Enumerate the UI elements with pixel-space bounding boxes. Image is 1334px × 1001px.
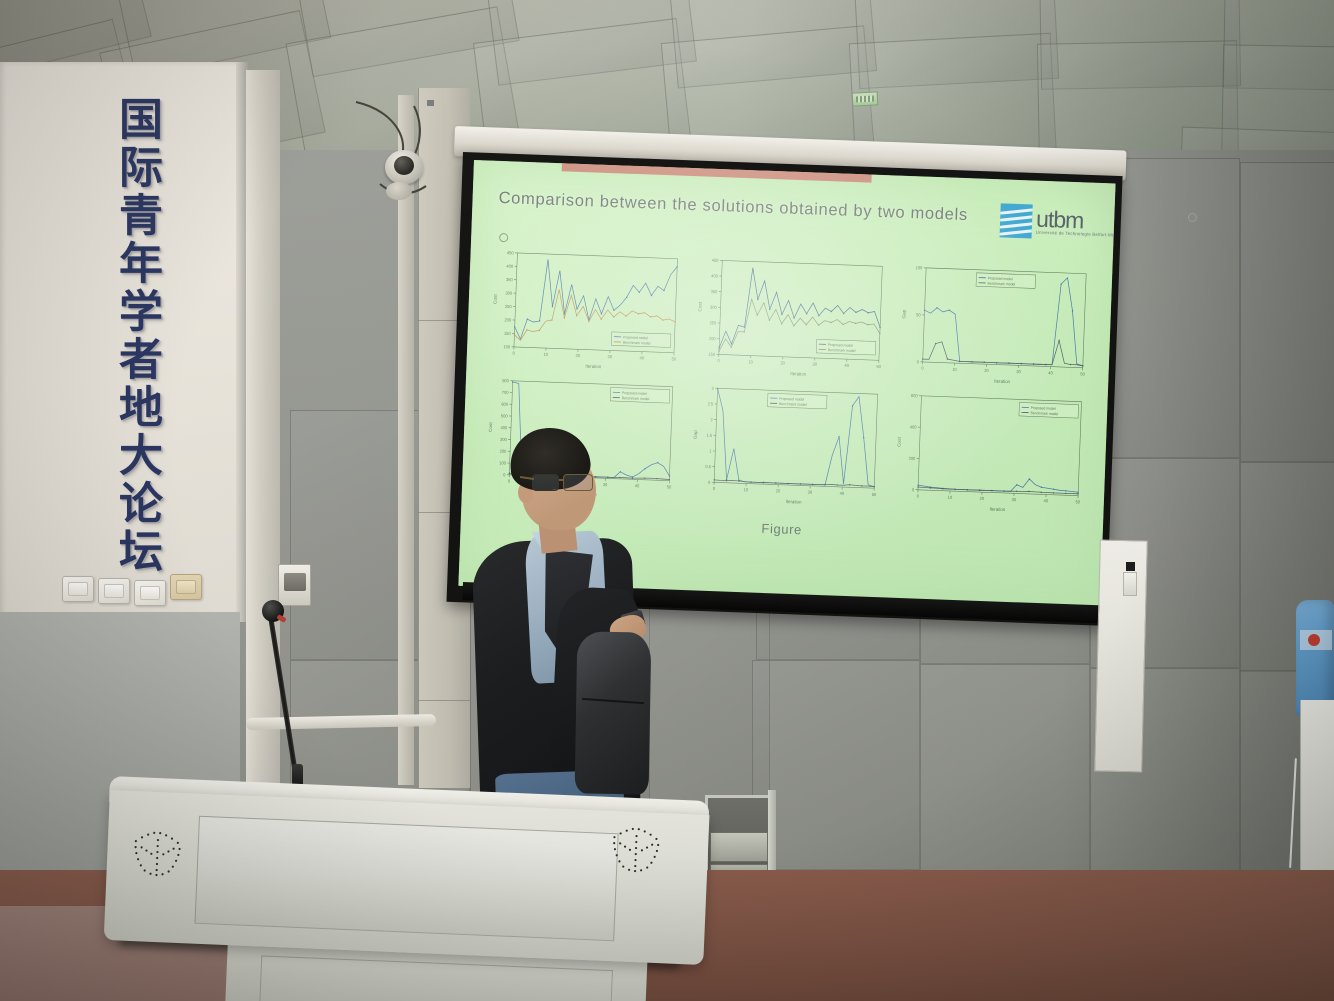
svg-text:Iteration: Iteration <box>994 378 1010 384</box>
svg-text:0: 0 <box>922 365 925 370</box>
slide-title: Comparison between the solutions obtaine… <box>498 189 968 225</box>
utbm-logo-mark-icon <box>1000 203 1033 238</box>
svg-text:20: 20 <box>985 368 990 373</box>
water-bottle-label <box>1300 630 1332 650</box>
svg-text:400: 400 <box>711 273 718 278</box>
chart-1: 10015020025030035040045001020304050Itera… <box>488 245 683 374</box>
svg-text:Gap: Gap <box>692 430 697 440</box>
svg-text:10: 10 <box>948 495 953 500</box>
svg-text:350: 350 <box>710 289 717 294</box>
svg-text:250: 250 <box>505 304 512 309</box>
svg-text:350: 350 <box>506 277 513 282</box>
microphone-connector <box>292 764 303 786</box>
svg-text:50: 50 <box>871 492 876 497</box>
svg-text:0: 0 <box>513 350 516 355</box>
svg-text:450: 450 <box>507 250 514 255</box>
switch-plate-3[interactable] <box>134 580 166 606</box>
slide-bullet-marker <box>499 233 508 242</box>
speaker-grille-left-icon <box>126 825 190 886</box>
svg-text:10: 10 <box>743 487 748 492</box>
svg-text:0: 0 <box>912 487 915 492</box>
right-wall-panel <box>1094 539 1148 772</box>
svg-text:0: 0 <box>917 359 920 364</box>
svg-text:40: 40 <box>1049 370 1054 375</box>
svg-text:2: 2 <box>710 417 713 422</box>
svg-text:250: 250 <box>709 320 716 325</box>
svg-text:20: 20 <box>775 488 780 493</box>
svg-text:40: 40 <box>639 355 644 360</box>
svg-text:40: 40 <box>1044 498 1049 503</box>
svg-text:200: 200 <box>504 317 511 322</box>
svg-text:30: 30 <box>807 489 812 494</box>
svg-text:30: 30 <box>1017 369 1022 374</box>
svg-text:Cost: Cost <box>493 293 498 304</box>
camera-mount <box>386 182 412 200</box>
svg-text:400: 400 <box>506 263 513 268</box>
svg-text:40: 40 <box>844 363 849 368</box>
svg-text:0.5: 0.5 <box>705 464 711 469</box>
av-device-1 <box>710 832 768 862</box>
svg-text:150: 150 <box>708 352 715 357</box>
svg-text:Iteration: Iteration <box>990 506 1006 512</box>
svg-text:Iteration: Iteration <box>785 499 801 505</box>
office-chair[interactable] <box>575 631 652 794</box>
svg-text:50: 50 <box>1081 371 1086 376</box>
svg-text:0: 0 <box>917 493 920 498</box>
svg-text:0: 0 <box>708 480 711 485</box>
svg-text:700: 700 <box>502 390 509 395</box>
eyeglasses-icon <box>532 474 594 491</box>
right-panel-switch[interactable] <box>1123 572 1137 596</box>
utbm-logo: utbm Université de Technologie Belfort-M… <box>999 201 1096 242</box>
svg-text:10: 10 <box>952 367 957 372</box>
svg-text:200: 200 <box>909 456 916 461</box>
svg-text:30: 30 <box>1012 497 1017 502</box>
svg-text:300: 300 <box>505 290 512 295</box>
svg-text:200: 200 <box>709 336 716 341</box>
right-panel-sensor-icon <box>1126 562 1135 571</box>
microphone-wall-box <box>278 564 311 606</box>
chart-3: 05010001020304050IterationGapProposed mo… <box>897 260 1092 389</box>
wall-sign-calligraphy: 国际青年学者地大论坛 <box>88 96 158 576</box>
svg-text:Gap: Gap <box>902 309 907 319</box>
svg-text:50: 50 <box>876 364 881 369</box>
svg-text:30: 30 <box>812 361 817 366</box>
svg-text:10: 10 <box>543 352 548 357</box>
speaker-grille-right-icon <box>605 821 669 882</box>
wall-fixture-dot <box>1189 214 1196 221</box>
svg-text:Iteration: Iteration <box>585 363 601 369</box>
svg-text:Cost: Cost <box>697 301 702 312</box>
svg-text:3: 3 <box>711 386 714 391</box>
svg-text:Iteration: Iteration <box>790 371 806 377</box>
svg-text:1.5: 1.5 <box>706 432 712 437</box>
water-dispenser[interactable] <box>1300 700 1334 872</box>
chart-5: 00.511.522.5301020304050IterationGapProp… <box>688 380 883 509</box>
camera-lens-icon <box>394 156 414 175</box>
svg-text:50: 50 <box>1076 499 1081 504</box>
svg-text:0: 0 <box>712 486 715 491</box>
svg-text:400: 400 <box>910 424 917 429</box>
wall-pillar-left <box>246 70 280 790</box>
svg-text:10: 10 <box>748 359 753 364</box>
conference-room-photo: 国际青年学者地大论坛 ...mand and Time Windows Comp… <box>0 0 1334 1001</box>
svg-text:500: 500 <box>501 413 508 418</box>
svg-text:20: 20 <box>575 353 580 358</box>
svg-text:40: 40 <box>839 491 844 496</box>
water-bottle <box>1296 600 1334 716</box>
svg-text:20: 20 <box>980 496 985 501</box>
svg-text:100: 100 <box>503 344 510 349</box>
switch-plate-1[interactable] <box>62 576 94 602</box>
svg-text:50: 50 <box>671 356 676 361</box>
svg-text:600: 600 <box>501 401 508 406</box>
svg-text:Cost: Cost <box>897 436 902 447</box>
svg-text:600: 600 <box>911 393 918 398</box>
svg-text:50: 50 <box>916 312 921 317</box>
chart-6: 020040060001020304050IterationCostPropos… <box>893 388 1088 517</box>
svg-text:30: 30 <box>607 354 612 359</box>
svg-text:2.5: 2.5 <box>707 401 713 406</box>
lectern-front-panel <box>194 816 618 941</box>
svg-text:0: 0 <box>717 358 720 363</box>
svg-text:20: 20 <box>780 360 785 365</box>
svg-text:1: 1 <box>709 448 712 453</box>
svg-text:100: 100 <box>916 265 923 270</box>
svg-text:800: 800 <box>502 378 509 383</box>
chart-2: 15020025030035040045001020304050Iteratio… <box>693 252 888 381</box>
svg-text:150: 150 <box>504 331 511 336</box>
presentation-lectern[interactable] <box>104 790 710 965</box>
svg-text:450: 450 <box>711 258 718 263</box>
switch-plate-beige[interactable] <box>170 574 202 600</box>
switch-plate-2[interactable] <box>98 578 130 604</box>
svg-text:300: 300 <box>710 305 717 310</box>
